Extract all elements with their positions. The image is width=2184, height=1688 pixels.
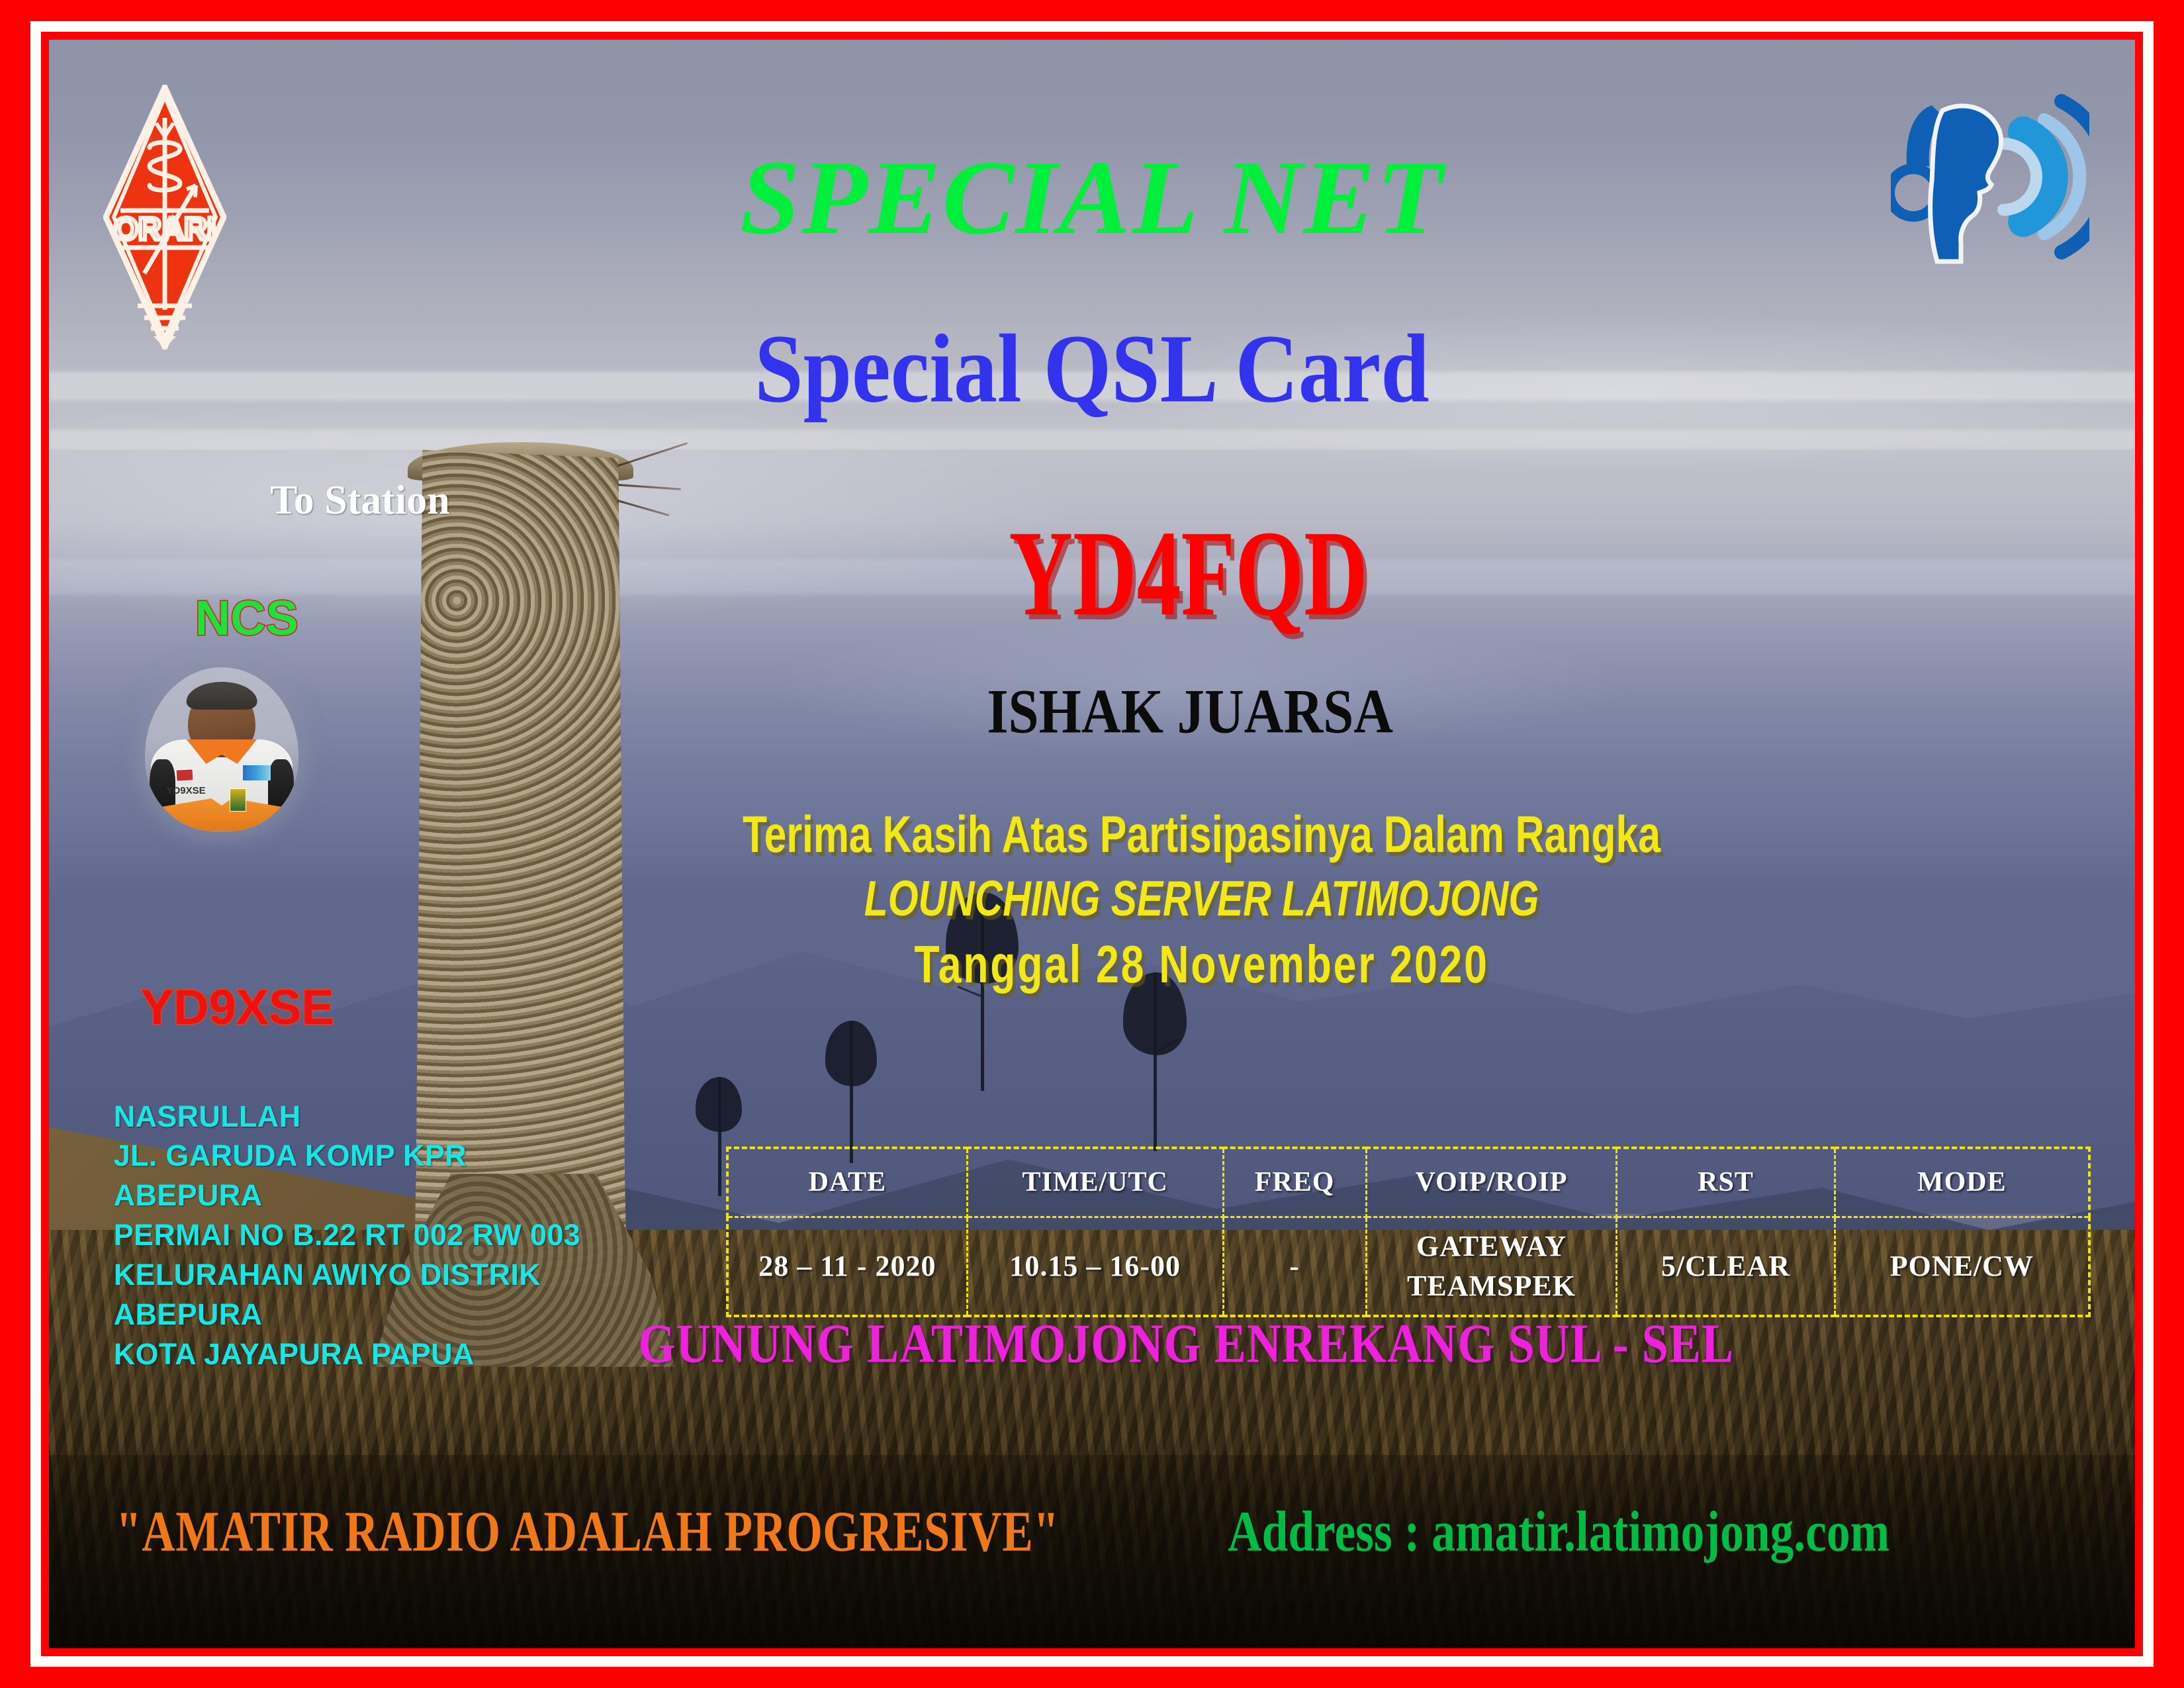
recipient-callsign: YD4FQD	[174, 503, 2010, 643]
tree-canopy	[825, 1021, 877, 1086]
table-row: 28 – 11 - 2020 10.15 – 16-00 - GATEWAYTE…	[727, 1217, 2089, 1316]
cell-date: 28 – 11 - 2020	[727, 1217, 967, 1316]
photo-uniform-patch-right	[243, 765, 271, 780]
column-header-time: TIME/UTC	[967, 1148, 1223, 1217]
qsl-card-frame: ORARI SPECIAL NET Special QSL Card To St	[0, 0, 2184, 1688]
recipient-operator-name: ISHAK JUARSA	[112, 676, 2073, 748]
table-header-row: DATE TIME/UTC FREQ VOIP/ROIP RST MODE	[727, 1148, 2089, 1217]
column-header-date: DATE	[727, 1148, 967, 1217]
thanks-line-1: Terima Kasih Atas Partisipasinya Dalam R…	[343, 804, 2060, 864]
subtitle-special-qsl-card: Special QSL Card	[49, 312, 2135, 425]
thanks-message-block: Terima Kasih Atas Partisipasinya Dalam R…	[49, 809, 2135, 990]
card-photo-background: ORARI SPECIAL NET Special QSL Card To St	[49, 40, 2135, 1648]
web-address-text: Address : amatir.latimojong.com	[1228, 1499, 1889, 1565]
cell-rst: 5/CLEAR	[1617, 1217, 1835, 1316]
column-header-mode: MODE	[1835, 1148, 2089, 1217]
address-line: NASRULLAH	[114, 1097, 580, 1137]
silhouette-tree	[825, 1021, 877, 1163]
thanks-line-3-date: Tanggal 28 November 2020	[343, 934, 2060, 995]
motto-text: "AMATIR RADIO ADALAH PROGRESIVE"	[116, 1499, 1059, 1565]
address-line: PERMAI NO B.22 RT 002 RW 003	[114, 1215, 580, 1255]
qso-log-table: DATE TIME/UTC FREQ VOIP/ROIP RST MODE 28…	[726, 1147, 2091, 1317]
location-line: GUNUNG LATIMOJONG ENREKANG SUL - SEL	[101, 1313, 2083, 1376]
address-line: ABEPURA	[114, 1176, 580, 1215]
column-header-voip: VOIP/ROIP	[1366, 1148, 1617, 1217]
page-title-special-net: SPECIAL NET	[49, 136, 2135, 259]
column-header-rst: RST	[1617, 1148, 1835, 1217]
address-line: KELURAHAN AWIYO DISTRIK	[114, 1255, 580, 1295]
cell-time: 10.15 – 16-00	[967, 1217, 1223, 1316]
thanks-line-2-event: LOUNCHING SERVER LATIMOJONG	[343, 869, 2060, 927]
cell-freq: -	[1223, 1217, 1366, 1316]
photo-uniform-patch-left	[175, 769, 195, 782]
address-line: JL. GARUDA KOMP KPR	[114, 1136, 580, 1176]
cell-voip: GATEWAYTEAMSPEK	[1366, 1217, 1617, 1316]
silhouette-tree	[1123, 972, 1187, 1151]
tree-canopy	[696, 1077, 742, 1132]
photo-shirt-callsign: YD9XSE	[166, 785, 205, 796]
cell-mode: PONE/CW	[1835, 1217, 2089, 1316]
column-header-freq: FREQ	[1223, 1148, 1366, 1217]
